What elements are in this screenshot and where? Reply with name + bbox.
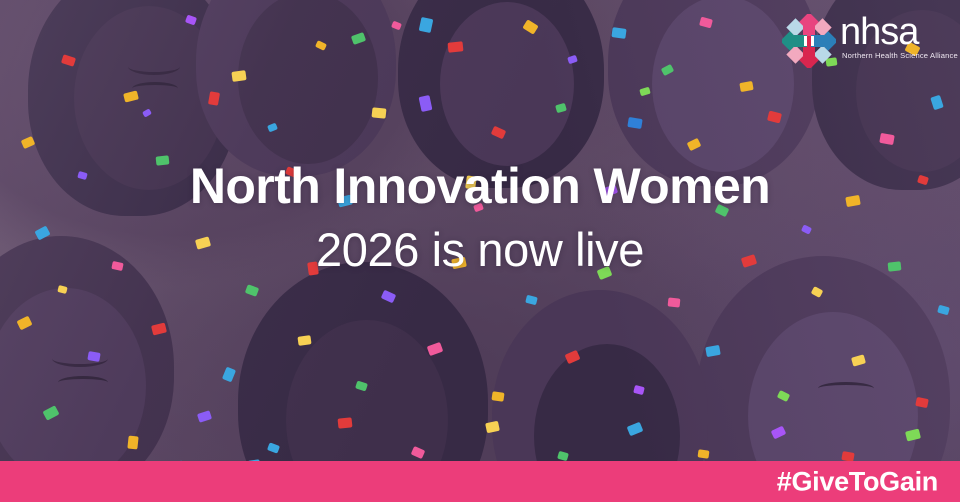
promo-banner: North Innovation Women 2026 is now live [0, 0, 960, 502]
footer-bar: #GiveToGain [0, 461, 960, 502]
nhsa-tagline: Northern Health Science Alliance [842, 51, 958, 60]
nhsa-pinwheel-icon [782, 14, 836, 68]
hashtag-label: #GiveToGain [777, 466, 938, 497]
nhsa-wordmark: nhsa [840, 12, 918, 52]
headline: North Innovation Women [0, 161, 960, 211]
nhsa-logo[interactable]: nhsa Northern Health Science Alliance [782, 12, 948, 70]
subheadline: 2026 is now live [0, 226, 960, 273]
